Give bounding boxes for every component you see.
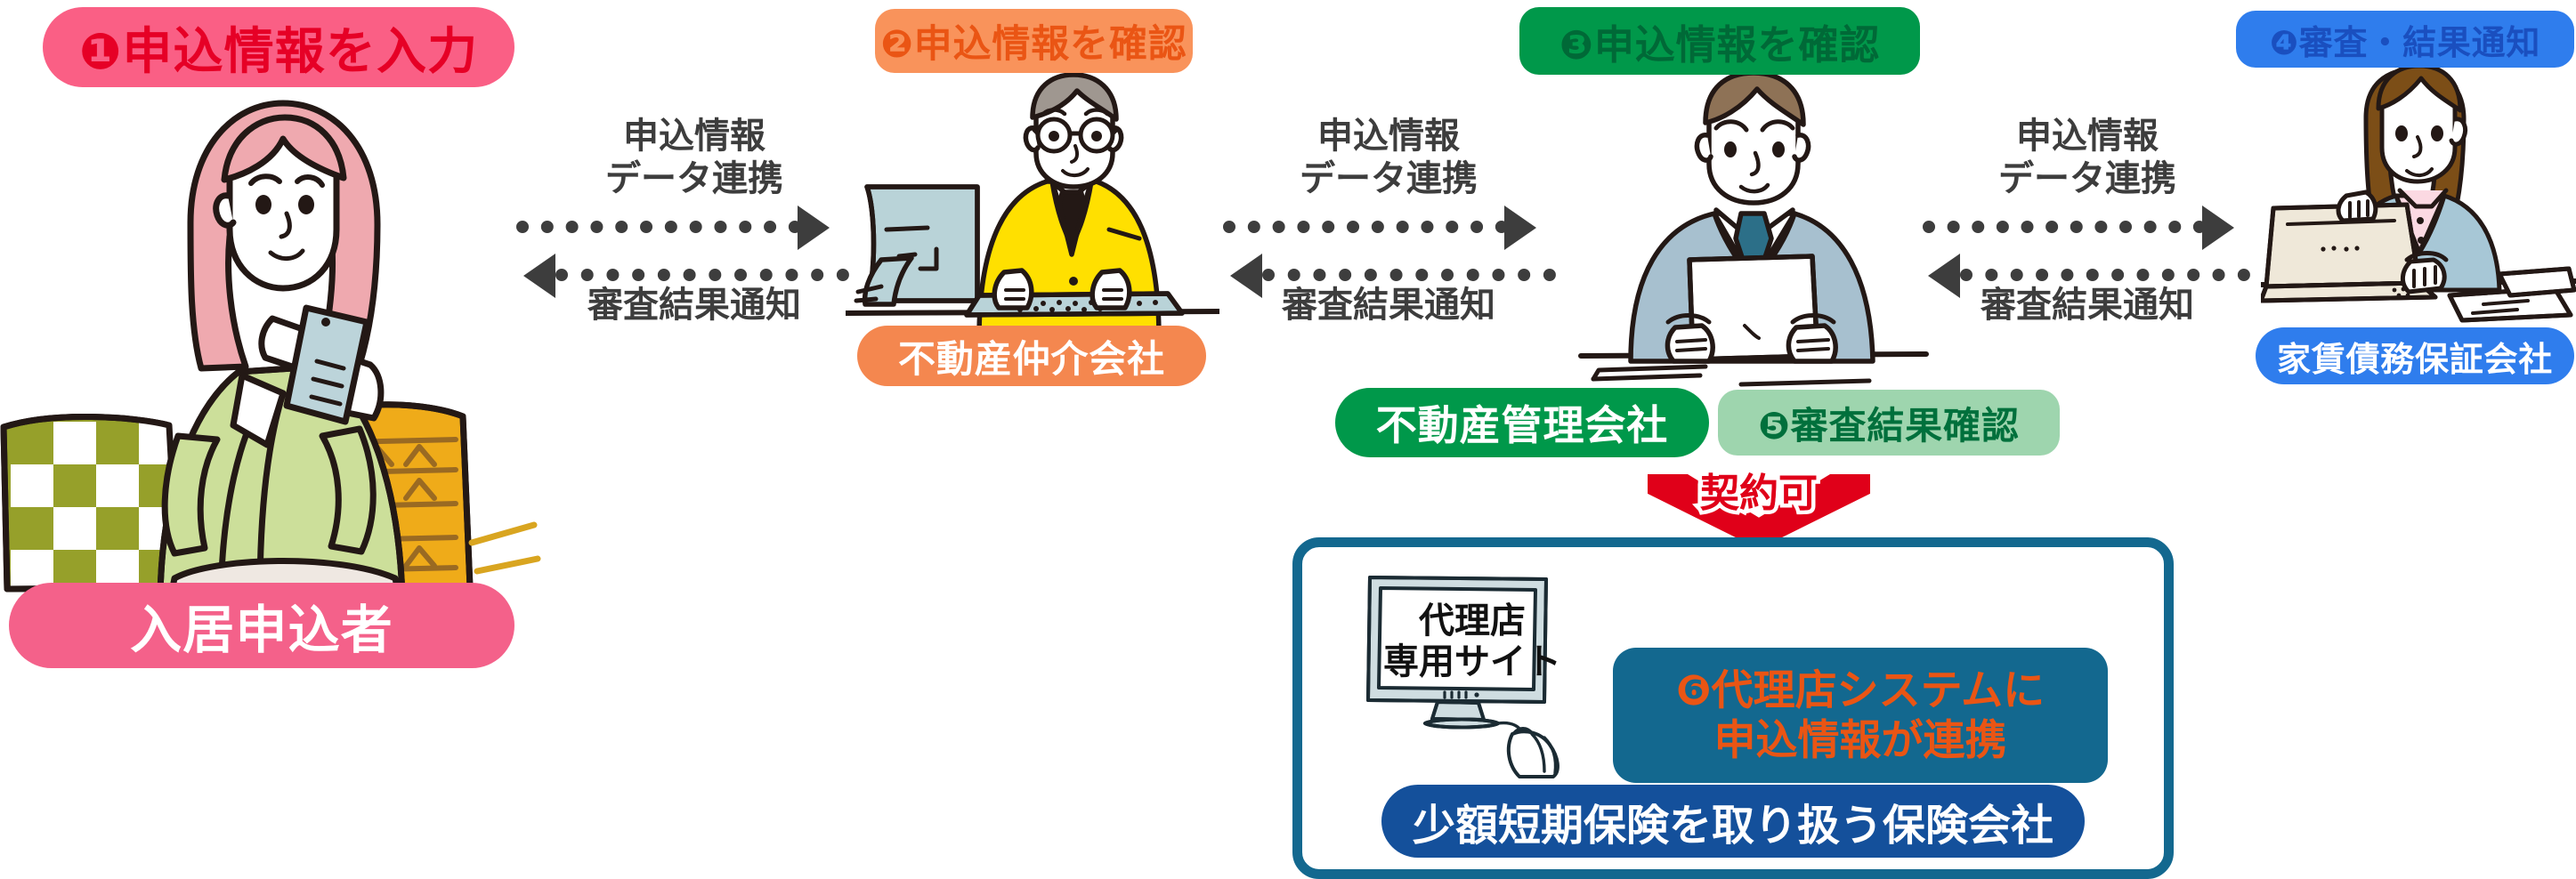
- applicant-label: 入居申込者: [9, 583, 514, 668]
- brokerage-illustration: [846, 71, 1219, 338]
- flow-3-group: 申込情報 データ連携 審査結果通知: [1914, 116, 2261, 329]
- arrow-right-icon: [2202, 206, 2234, 250]
- flow-1-forward-label-line2: データ連携: [516, 158, 872, 200]
- arrow-right-icon: [1504, 206, 1536, 250]
- flow-1-back-label: 審査結果通知: [516, 285, 872, 327]
- flow-3-forward-label-line1: 申込情報: [1914, 116, 2261, 157]
- applicant-illustration: [0, 62, 552, 596]
- flow-3-back-label: 審査結果通知: [1914, 285, 2261, 327]
- agency-site-screen-line1: 代理店: [1376, 601, 1568, 642]
- flow-3-forward-label-line2: データ連携: [1914, 158, 2261, 200]
- flow-2-group: 申込情報 データ連携 審査結果通知: [1211, 116, 1567, 329]
- step-6-label-line1: ❻代理店システムに: [1676, 665, 2045, 715]
- guarantor-illustration: [2261, 62, 2576, 338]
- flow-3-forward-dotted-line: [1923, 221, 2206, 233]
- contract-label: 契約可: [1648, 461, 1870, 518]
- flow-1-back-dotted-line: [555, 269, 849, 281]
- agency-site-screen-text: 代理店 専用サイト: [1376, 601, 1568, 682]
- flow-1-group: 申込情報 データ連携 審査結果通知: [516, 116, 872, 329]
- step-4-badge: ❹審査・結果通知: [2236, 11, 2574, 68]
- agency-site-screen-line2: 専用サイト: [1376, 642, 1568, 683]
- step-5-badge: ❺審査結果確認: [1718, 390, 2060, 456]
- management-illustration: [1576, 71, 1932, 400]
- flow-2-back-label: 審査結果通知: [1211, 285, 1567, 327]
- brokerage-label: 不動産仲介会社: [857, 326, 1206, 386]
- step-6-label-line2: 申込情報が連携: [1714, 715, 2007, 765]
- step-1-badge: ❶申込情報を入力: [43, 7, 514, 87]
- arrow-right-icon: [798, 206, 830, 250]
- flow-2-forward-dotted-line: [1223, 221, 1508, 233]
- flow-3-back-dotted-line: [1960, 269, 2250, 281]
- step-2-badge: ❷申込情報を確認: [875, 9, 1193, 73]
- flow-2-forward-label-line1: 申込情報: [1211, 116, 1567, 157]
- step-3-badge: ❸申込情報を確認: [1519, 7, 1920, 75]
- diagram-canvas: ❶申込情報を入力 ❷申込情報を確認 ❸申込情報を確認 ❹審査・結果通知 申込情報…: [0, 0, 2576, 879]
- flow-2-back-dotted-line: [1262, 269, 1556, 281]
- insurer-label: 少額短期保険を取り扱う保険会社: [1381, 785, 2085, 858]
- flow-1-forward-label-line1: 申込情報: [516, 116, 872, 157]
- guarantor-label: 家賃債務保証会社: [2256, 327, 2574, 384]
- management-label: 不動産管理会社: [1335, 388, 1709, 457]
- flow-1-forward-dotted-line: [516, 221, 801, 233]
- step-6-badge: ❻代理店システムに 申込情報が連携: [1613, 648, 2108, 783]
- flow-2-forward-label-line2: データ連携: [1211, 158, 1567, 200]
